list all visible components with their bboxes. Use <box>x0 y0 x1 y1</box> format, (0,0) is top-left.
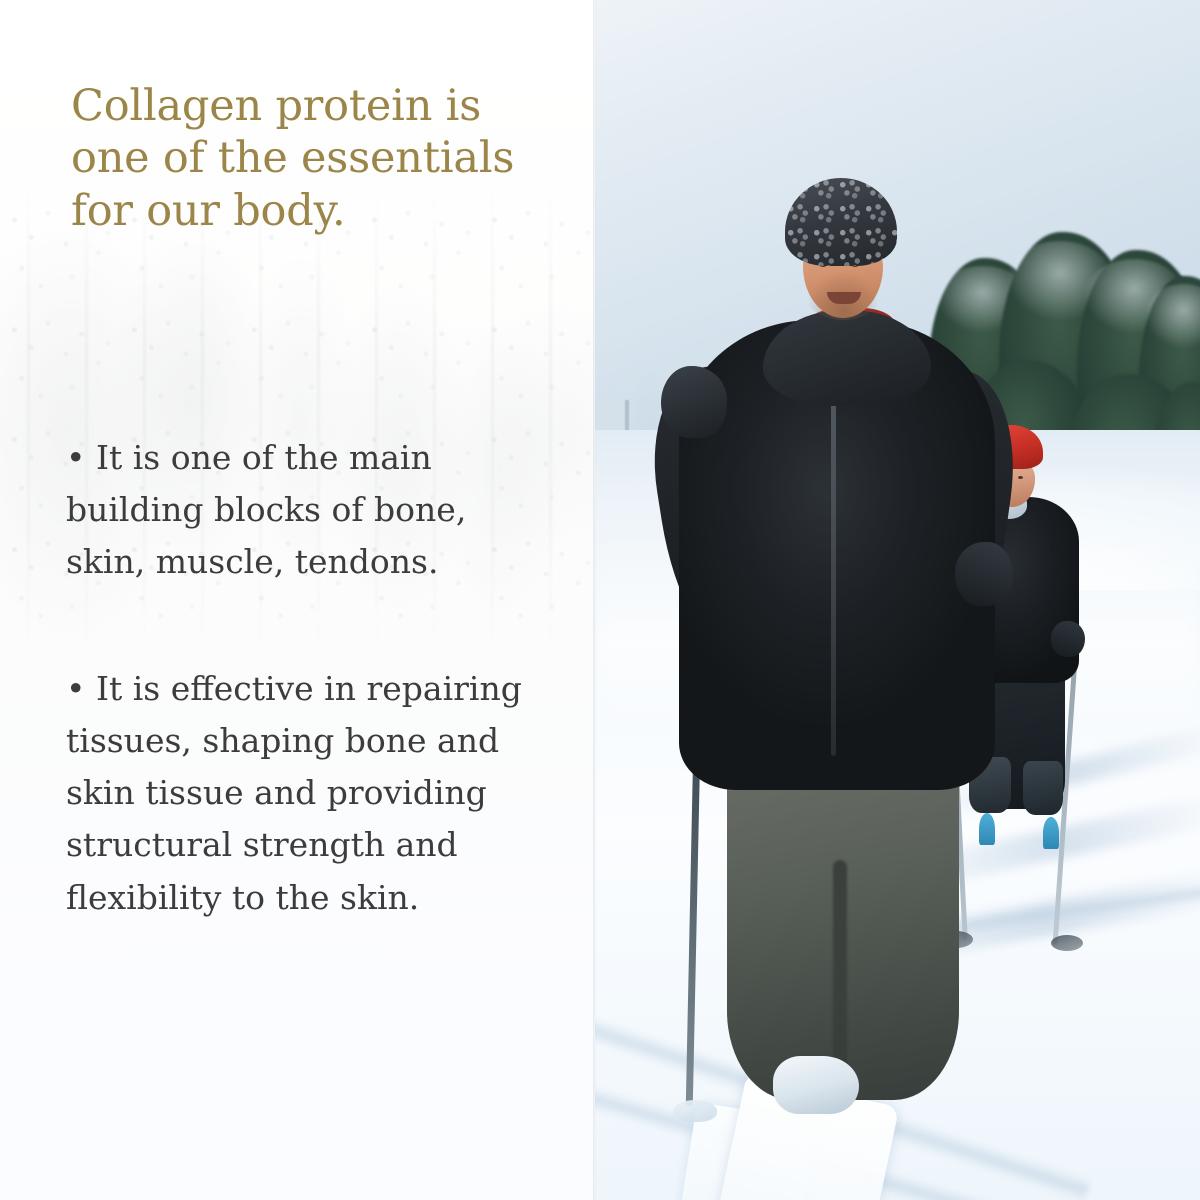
knit-beanie <box>785 178 897 266</box>
glove <box>955 542 1013 606</box>
infographic-canvas: Collagen protein is one of the essential… <box>0 0 1200 1200</box>
bullet-item-1: • It is one of the main building blocks … <box>66 432 546 588</box>
panel-divider <box>593 0 596 1200</box>
ski-pole-basket <box>673 1100 717 1122</box>
glove <box>661 366 727 438</box>
bullet-item-2: • It is effective in repairing tissues, … <box>66 663 546 924</box>
page-title: Collagen protein is one of the essential… <box>71 80 571 237</box>
ski-tip <box>1043 817 1059 849</box>
ski-pole-basket <box>1051 935 1083 951</box>
glove <box>1051 621 1085 657</box>
lead-skier <box>655 170 1015 1180</box>
text-panel: Collagen protein is one of the essential… <box>0 0 595 1200</box>
leg-separation <box>833 860 847 1086</box>
boot-gaiter <box>1023 761 1063 815</box>
jacket-hood <box>763 310 931 406</box>
winter-skiing-photo <box>595 0 1200 1200</box>
ski-boot <box>773 1056 859 1114</box>
jacket-zipper <box>831 366 836 756</box>
